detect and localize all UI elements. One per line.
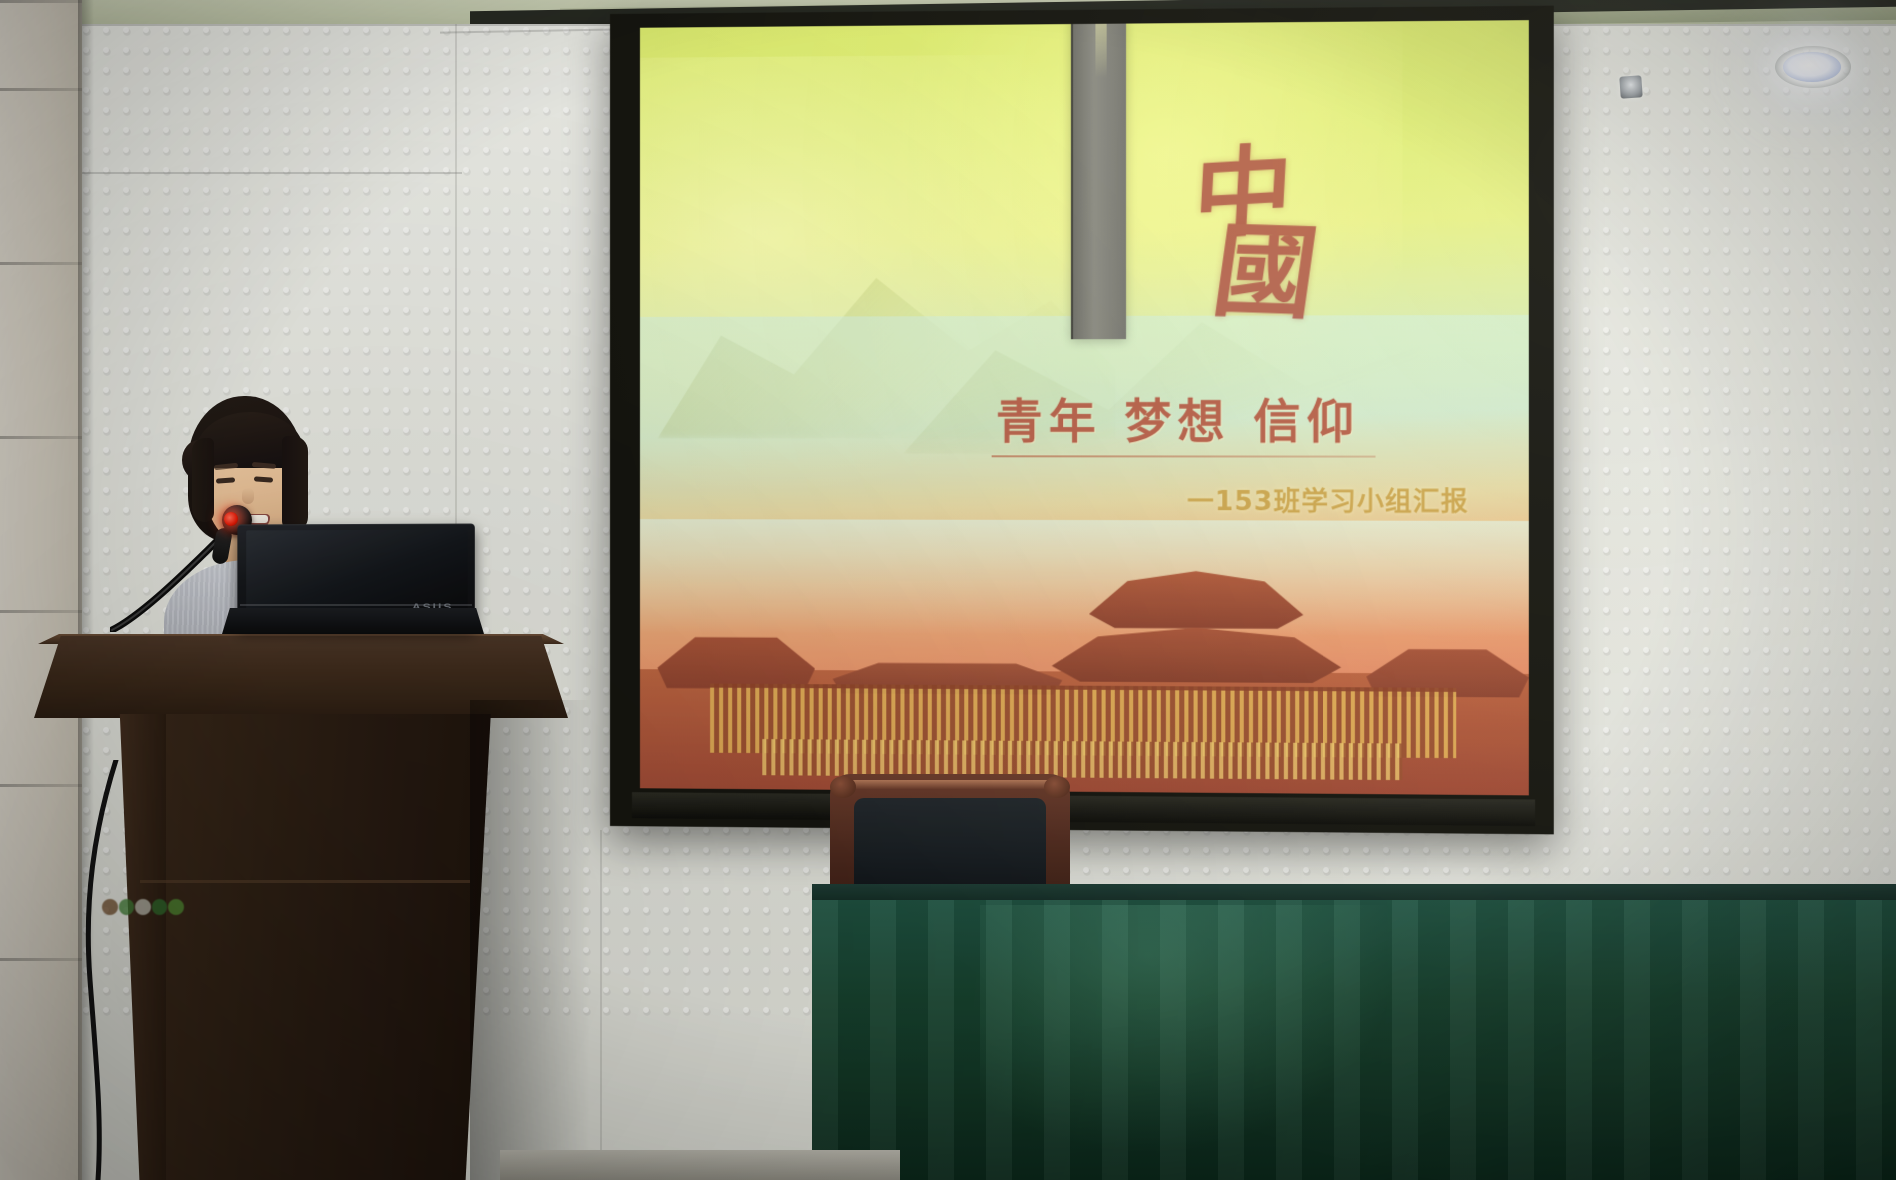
calligraphy-china: 中 國 [1187, 150, 1314, 317]
laptop-base [222, 608, 484, 634]
photo-scene: 中 國 青年 梦想 信仰 一153班学习小组汇报 [0, 0, 1896, 1180]
baseboard [500, 1150, 900, 1180]
chair-crest-rail [844, 780, 1056, 789]
calligraphy-char-2: 國 [1209, 229, 1316, 316]
wall-seam [82, 172, 462, 174]
left-wall-panel [0, 0, 82, 1180]
table-cloth-sheen [980, 905, 1400, 1155]
microphone-cable [74, 760, 144, 1180]
laptop-screen [246, 530, 468, 611]
nose [242, 488, 254, 504]
screen-bottom-bar [632, 792, 1535, 826]
chair-knob [1044, 776, 1070, 798]
lectern-panel-seam [140, 880, 470, 883]
wall-seam-vertical [600, 830, 602, 1180]
slide-headline: 青年 梦想 信仰 [996, 385, 1360, 452]
screen-surface: 中 國 青年 梦想 信仰 一153班学习小组汇报 [640, 20, 1529, 795]
screen-mount-bracket-icon [1619, 75, 1642, 98]
monument-pillar-graphic [1071, 20, 1126, 339]
projected-slide: 中 國 青年 梦想 信仰 一153班学习小组汇报 [640, 20, 1529, 795]
slide-subtitle: 一153班学习小组汇报 [1187, 481, 1469, 519]
lectern-shadow [470, 700, 590, 1180]
slide-divider [991, 455, 1375, 457]
microphone-led-indicator-icon [224, 512, 238, 526]
hair-side [282, 436, 308, 532]
chair-knob [830, 776, 856, 798]
hair-side [192, 438, 214, 522]
forbidden-city-graphic [640, 560, 1529, 795]
projection-screen[interactable]: 中 國 青年 梦想 信仰 一153班学习小组汇报 [610, 6, 1554, 835]
recessed-downlight-icon [1783, 52, 1841, 82]
